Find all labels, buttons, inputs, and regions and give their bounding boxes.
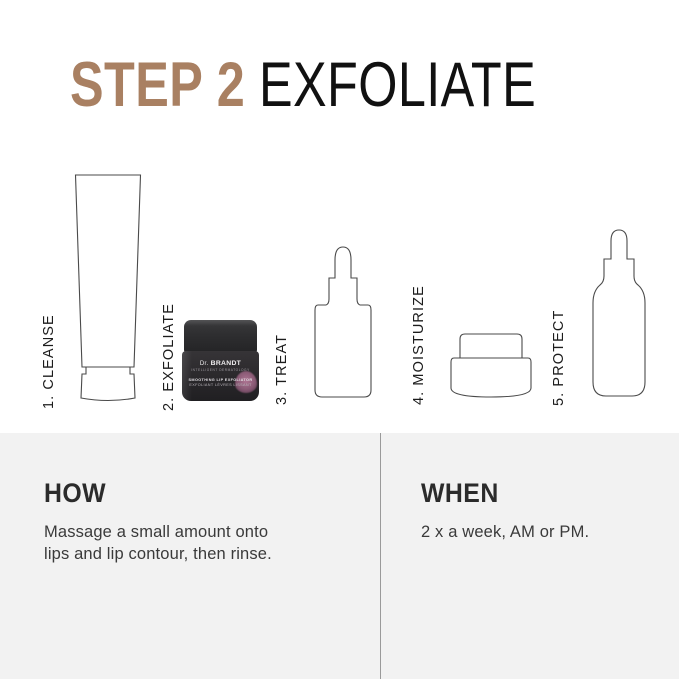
column-divider — [380, 433, 381, 679]
routine-lineup: 1. CLEANSE 2. EXFOLIATE 3. TREAT 4. MOIS… — [0, 140, 679, 430]
step-action-title: EXFOLIATE — [259, 54, 536, 117]
how-line-1: Massage a small amount onto — [44, 522, 364, 544]
product-name-fr: EXFOLIANT LÈVRES LISSANT — [182, 383, 259, 387]
routine-step-treat[interactable] — [312, 242, 374, 402]
brand-tagline: INTELLIGENT DERMATOLOGY — [182, 368, 259, 372]
product-name-en: SMOOTHING LIP EXFOLIATOR — [182, 378, 259, 382]
routine-step-cleanse[interactable] — [68, 172, 148, 402]
product-brand: Dr. BRANDT — [182, 360, 259, 367]
when-text: 2 x a week, AM or PM. — [421, 522, 661, 544]
dropper-bottle-icon — [312, 242, 374, 402]
when-column: WHEN 2 x a week, AM or PM. — [421, 478, 661, 544]
how-text: Massage a small amount onto lips and lip… — [44, 522, 364, 566]
featured-product-jar[interactable]: Dr. BRANDT INTELLIGENT DERMATOLOGY SMOOT… — [182, 320, 259, 401]
how-line-2: lips and lip contour, then rinse. — [44, 544, 364, 566]
heart-icon — [235, 371, 257, 393]
when-line-1: 2 x a week, AM or PM. — [421, 522, 661, 544]
brand-name: BRANDT — [211, 360, 242, 367]
jar-body: Dr. BRANDT INTELLIGENT DERMATOLOGY SMOOT… — [182, 351, 259, 401]
step-label: STEP 2 — [70, 54, 245, 117]
routine-step-moisturize[interactable] — [448, 325, 534, 403]
brand-prefix: Dr. — [200, 361, 209, 367]
routine-label-moisturize: 4. MOISTURIZE — [411, 285, 427, 405]
how-heading: HOW — [44, 478, 338, 509]
jar-lid — [184, 320, 257, 353]
routine-label-protect: 5. PROTECT — [551, 310, 567, 406]
tube-icon — [68, 172, 148, 402]
routine-step-protect[interactable] — [588, 226, 650, 401]
infographic-root: STEP 2 EXFOLIATE 1. CLEANSE 2. EXFOLIATE… — [0, 0, 679, 679]
routine-label-cleanse: 1. CLEANSE — [41, 314, 57, 409]
how-column: HOW Massage a small amount onto lips and… — [44, 478, 364, 566]
wide-jar-icon — [448, 325, 534, 403]
instructions-panel: HOW Massage a small amount onto lips and… — [0, 433, 679, 679]
routine-label-exfoliate: 2. EXFOLIATE — [161, 303, 177, 411]
when-heading: WHEN — [421, 478, 642, 509]
serum-bottle-icon — [588, 226, 650, 401]
page-title: STEP 2 EXFOLIATE — [70, 54, 605, 117]
routine-label-treat: 3. TREAT — [274, 334, 290, 405]
